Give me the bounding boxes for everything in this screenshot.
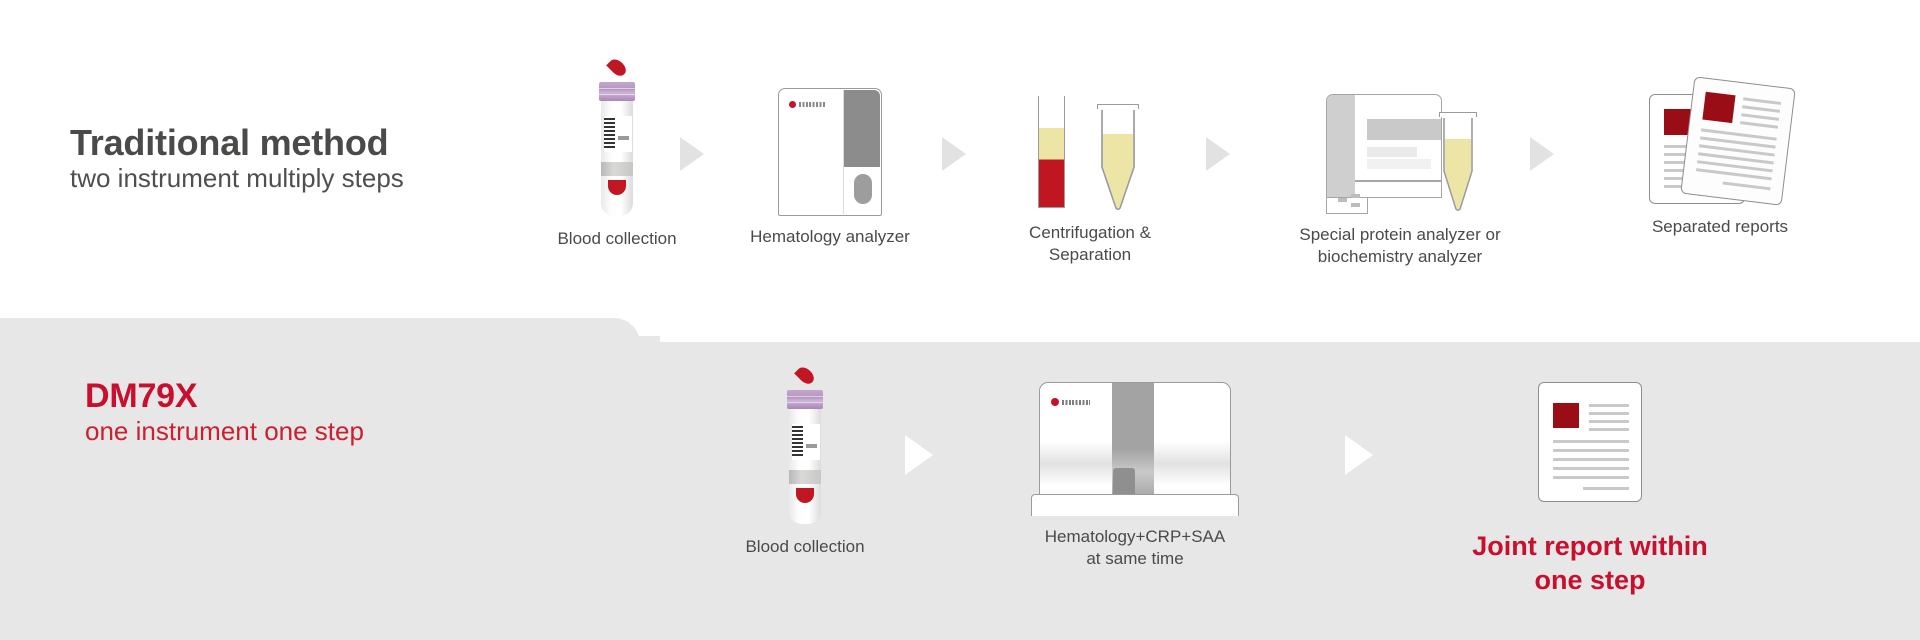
report-line: [1589, 404, 1629, 407]
step-centrifugation-separation[interactable]: Centrifugation & Separation: [1000, 88, 1180, 267]
joint-report-icon: [1440, 382, 1740, 508]
conical-tube-svg: [1100, 109, 1136, 210]
analyzer-shelf: [1355, 180, 1442, 182]
indicator-dot: [1351, 194, 1360, 198]
arrow-right-icon: [905, 435, 933, 475]
step-caption: Joint report within one step: [1440, 530, 1740, 598]
analyzer-side-panel: [1327, 95, 1355, 197]
indicator-dot: [1338, 198, 1347, 202]
report-line: [1589, 420, 1629, 423]
tube-label-mark: [806, 444, 817, 448]
analyzer-bar-primary: [1367, 119, 1441, 140]
analyzer-base: [1031, 494, 1239, 516]
report-line: [1589, 412, 1629, 415]
step-blood-collection-dm79x[interactable]: Blood collection: [715, 366, 895, 558]
report-line: [1553, 476, 1629, 479]
report-line: [1553, 458, 1629, 461]
logo-wordmark: [1062, 400, 1090, 405]
conical-tube-svg: [1442, 117, 1474, 212]
process-comparison-infographic: Traditional method two instrument multip…: [0, 0, 1920, 640]
logo-wordmark: [799, 102, 825, 107]
logo-dot: [1051, 398, 1059, 406]
step-separated-reports[interactable]: Separated reports: [1625, 80, 1815, 238]
traditional-method-subtitle: two instrument multiply steps: [70, 163, 404, 194]
arrow-right-icon: [1206, 137, 1230, 171]
analyzer-knob: [854, 174, 872, 204]
centrifugation-tubes-icon: [1000, 88, 1180, 212]
barcode-icon: [604, 118, 615, 150]
step-caption: Hematology analyzer: [740, 226, 920, 248]
step-caption: Hematology+CRP+SAA at same time: [1030, 526, 1240, 571]
report-logo-swatch: [1553, 403, 1579, 428]
dm79x-row: DM79X one instrument one step Blood coll…: [0, 342, 1920, 640]
report-line: [1723, 181, 1771, 190]
report-line: [1553, 467, 1629, 470]
step-caption: Special protein analyzer or biochemistry…: [1285, 224, 1515, 269]
report-line: [1583, 487, 1629, 490]
step-caption: Blood collection: [715, 536, 895, 558]
arrow-right-icon: [1345, 435, 1373, 475]
conical-tube-serum: [1100, 104, 1136, 210]
tube-cap: [599, 82, 635, 101]
tube-cap: [787, 390, 823, 409]
analyzer-sample-tube: [1442, 112, 1474, 212]
analyzer-bar-tertiary: [1367, 159, 1431, 169]
traditional-method-row: Traditional method two instrument multip…: [0, 0, 1920, 342]
traditional-method-label: Traditional method two instrument multip…: [70, 122, 404, 195]
report-line: [1742, 105, 1780, 113]
report-logo-swatch: [1702, 92, 1735, 123]
report-sheet: [1538, 382, 1642, 502]
report-line: [1553, 449, 1629, 452]
blood-drop-icon: [794, 364, 817, 387]
blood-collection-tube-icon: [715, 366, 895, 526]
arrow-right-icon: [942, 137, 966, 171]
traditional-method-title: Traditional method: [70, 122, 404, 163]
brand-logo-icon: [789, 101, 825, 108]
analyzer-panel: [843, 90, 880, 167]
step-caption: Centrifugation & Separation: [1000, 222, 1180, 267]
analyzer-base: [1326, 198, 1368, 214]
step-hematology-analyzer[interactable]: Hematology analyzer: [740, 88, 920, 248]
tube-midband: [601, 162, 633, 176]
step-caption: Separated reports: [1625, 216, 1815, 238]
report-sheet-front: [1680, 76, 1796, 206]
analyzer-seam: [843, 90, 844, 214]
blood-drop-icon: [606, 56, 629, 79]
report-line: [1553, 440, 1629, 443]
analyzer-box: [1326, 94, 1442, 198]
dm79x-title: DM79X: [85, 377, 364, 416]
report-line: [1740, 121, 1778, 129]
tube-vessel: [1100, 109, 1136, 210]
dm79x-analyzer-icon: [1030, 382, 1240, 516]
report-line: [1741, 113, 1779, 121]
dm79x-subtitle: one instrument one step: [85, 416, 364, 447]
special-protein-analyzer-icon: [1285, 88, 1515, 214]
step-dm79x-analyzer[interactable]: Hematology+CRP+SAA at same time: [1030, 382, 1240, 571]
hematology-analyzer-icon: [740, 88, 920, 216]
step-joint-report[interactable]: Joint report within one step: [1440, 382, 1740, 598]
arrow-right-icon: [1530, 137, 1554, 171]
indicator-dot: [1351, 203, 1360, 207]
separated-reports-icon: [1625, 80, 1815, 206]
analyzer-bar-secondary: [1367, 147, 1417, 157]
barcode-icon: [792, 426, 803, 458]
brand-logo-icon: [1051, 398, 1090, 406]
tube-midband: [789, 470, 821, 484]
report-line: [1589, 428, 1629, 431]
dm79x-label: DM79X one instrument one step: [85, 377, 364, 447]
tube-label-mark: [618, 136, 629, 140]
logo-dot: [789, 101, 796, 108]
flat-tube-blood-serum: [1038, 96, 1065, 208]
report-line: [1743, 97, 1781, 105]
step-special-protein-analyzer[interactable]: Special protein analyzer or biochemistry…: [1285, 88, 1515, 269]
arrow-right-icon: [680, 137, 704, 171]
step-caption: Blood collection: [527, 228, 707, 250]
